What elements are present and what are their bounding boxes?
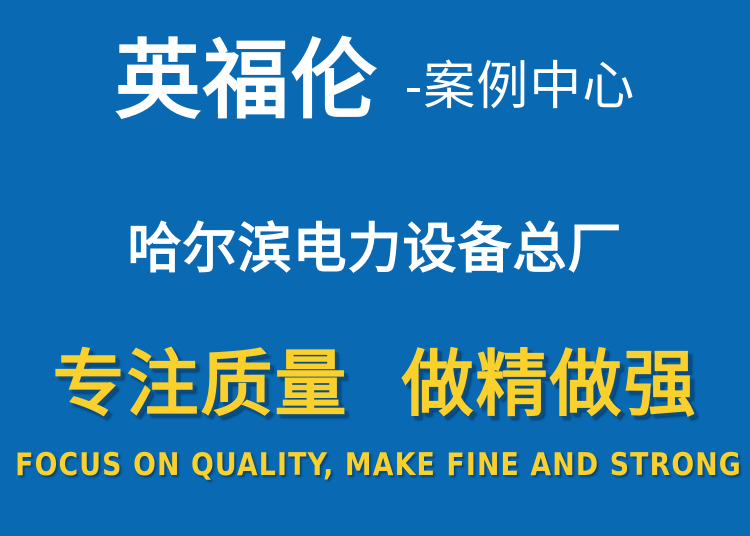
slogan-row: 专注质量 做精做强 [0, 348, 750, 420]
brand-section-label: -案例中心 [405, 61, 636, 113]
slogan-chinese-part1: 专注质量 [53, 342, 349, 426]
company-row: 哈尔滨电力设备总厂 [0, 222, 750, 276]
slogan-chinese-part2: 做精做强 [401, 342, 697, 426]
brand-name: 英福伦 [115, 38, 379, 124]
english-slogan-row: FOCUS ON QUALITY, MAKE FINE AND STRONG [0, 450, 750, 481]
brand-row: 英福伦 -案例中心 [0, 38, 750, 146]
slogan-english: FOCUS ON QUALITY, MAKE FINE AND STRONG [15, 450, 742, 481]
promo-banner: 英福伦 -案例中心 哈尔滨电力设备总厂 专注质量 做精做强 FOCUS ON Q… [0, 0, 750, 536]
company-name: 哈尔滨电力设备总厂 [128, 217, 623, 280]
